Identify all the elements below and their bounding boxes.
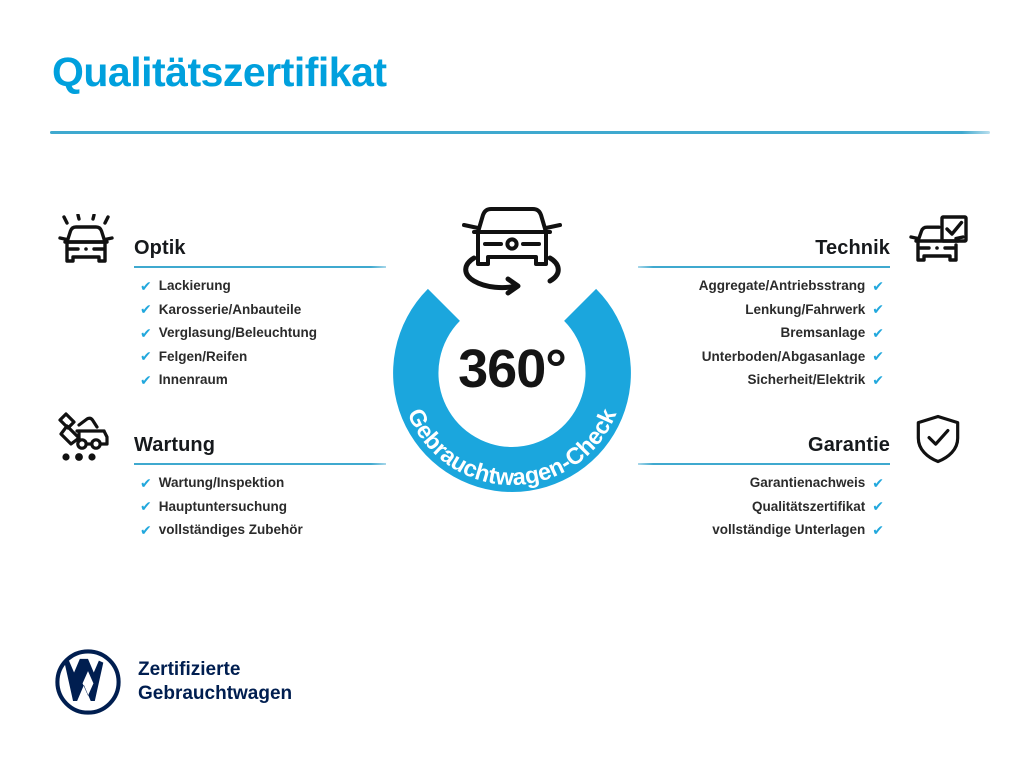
gebrauchtwagen-check-badge: Gebrauchtwagen-Check 360° — [374, 192, 650, 492]
list-item-label: Karosserie/Anbauteile — [159, 298, 302, 322]
section-header-wartung: Wartung — [48, 409, 416, 471]
check-icon: ✔ — [140, 373, 152, 387]
list-item-label: Garantienachweis — [750, 471, 866, 495]
footer-line-2: Gebrauchtwagen — [138, 682, 292, 706]
list-item: ✔Hauptuntersuchung — [140, 495, 416, 519]
check-icon: ✔ — [140, 326, 152, 340]
footer-line-1: Zertifizierte — [138, 658, 292, 682]
car-rotate-icon — [452, 192, 572, 300]
list-item-label: Lenkung/Fahrwerk — [745, 298, 865, 322]
list-item-label: Felgen/Reifen — [159, 345, 248, 369]
list-item-label: Bremsanlage — [780, 321, 865, 345]
section-header-optik: Optik — [48, 212, 416, 274]
section-wartung: Wartung ✔Wartung/Inspektion ✔Hauptunters… — [48, 409, 416, 542]
check-icon: ✔ — [872, 326, 884, 340]
badge-center-text: 360° — [374, 338, 650, 400]
list-item-label: Innenraum — [159, 368, 228, 392]
check-icon: ✔ — [140, 279, 152, 293]
list-item-label: Sicherheit/Elektrik — [747, 368, 865, 392]
check-icon: ✔ — [872, 302, 884, 316]
page-title: Qualitätszertifikat — [52, 50, 387, 95]
check-icon: ✔ — [872, 373, 884, 387]
list-item-label: Wartung/Inspektion — [159, 471, 285, 495]
list-item: vollständige Unterlagen✔ — [608, 518, 884, 542]
section-technik: Technik Aggregate/Antriebsstrang✔ Lenkun… — [608, 212, 976, 392]
list-item-label: Lackierung — [159, 274, 231, 298]
check-icon: ✔ — [140, 499, 152, 513]
check-icon: ✔ — [872, 523, 884, 537]
list-item-label: Hauptuntersuchung — [159, 495, 287, 519]
list-item: ✔vollständiges Zubehör — [140, 518, 416, 542]
section-divider-technik — [638, 266, 890, 268]
check-icon: ✔ — [872, 499, 884, 513]
check-icon: ✔ — [140, 523, 152, 537]
vw-logo — [54, 648, 122, 716]
section-title-garantie: Garantie — [808, 434, 890, 457]
section-title-optik: Optik — [134, 237, 186, 260]
section-title-wartung: Wartung — [134, 434, 215, 457]
car-shine-icon — [48, 212, 124, 272]
list-item-label: vollständige Unterlagen — [712, 518, 865, 542]
list-item-label: vollständiges Zubehör — [159, 518, 303, 542]
car-service-pen-icon — [48, 409, 124, 469]
check-icon: ✔ — [140, 302, 152, 316]
footer-text: Zertifizierte Gebrauchtwagen — [138, 658, 292, 706]
section-header-technik: Technik — [608, 212, 976, 274]
check-icon: ✔ — [140, 349, 152, 363]
certificate-page: Qualitätszertifikat Optik ✔Lackierung ✔K… — [0, 0, 1024, 768]
list-item-label: Aggregate/Antriebsstrang — [699, 274, 866, 298]
section-divider-wartung — [134, 463, 386, 465]
car-checkbox-icon — [900, 212, 976, 272]
list-item-label: Unterboden/Abgasanlage — [702, 345, 866, 369]
title-divider — [50, 131, 990, 134]
section-title-technik: Technik — [815, 237, 890, 260]
check-icon: ✔ — [872, 279, 884, 293]
footer-brand: Zertifizierte Gebrauchtwagen — [54, 648, 292, 716]
section-divider-garantie — [638, 463, 890, 465]
section-optik: Optik ✔Lackierung ✔Karosserie/Anbauteile… — [48, 212, 416, 392]
check-icon: ✔ — [872, 349, 884, 363]
shield-check-icon — [900, 409, 976, 469]
list-item-label: Verglasung/Beleuchtung — [159, 321, 317, 345]
section-header-garantie: Garantie — [608, 409, 976, 471]
list-item-label: Qualitätszertifikat — [752, 495, 865, 519]
check-icon: ✔ — [140, 476, 152, 490]
list-item: Qualitätszertifikat✔ — [608, 495, 884, 519]
section-divider-optik — [134, 266, 386, 268]
check-icon: ✔ — [872, 476, 884, 490]
section-garantie: Garantie Garantienachweis✔ Qualitätszert… — [608, 409, 976, 542]
